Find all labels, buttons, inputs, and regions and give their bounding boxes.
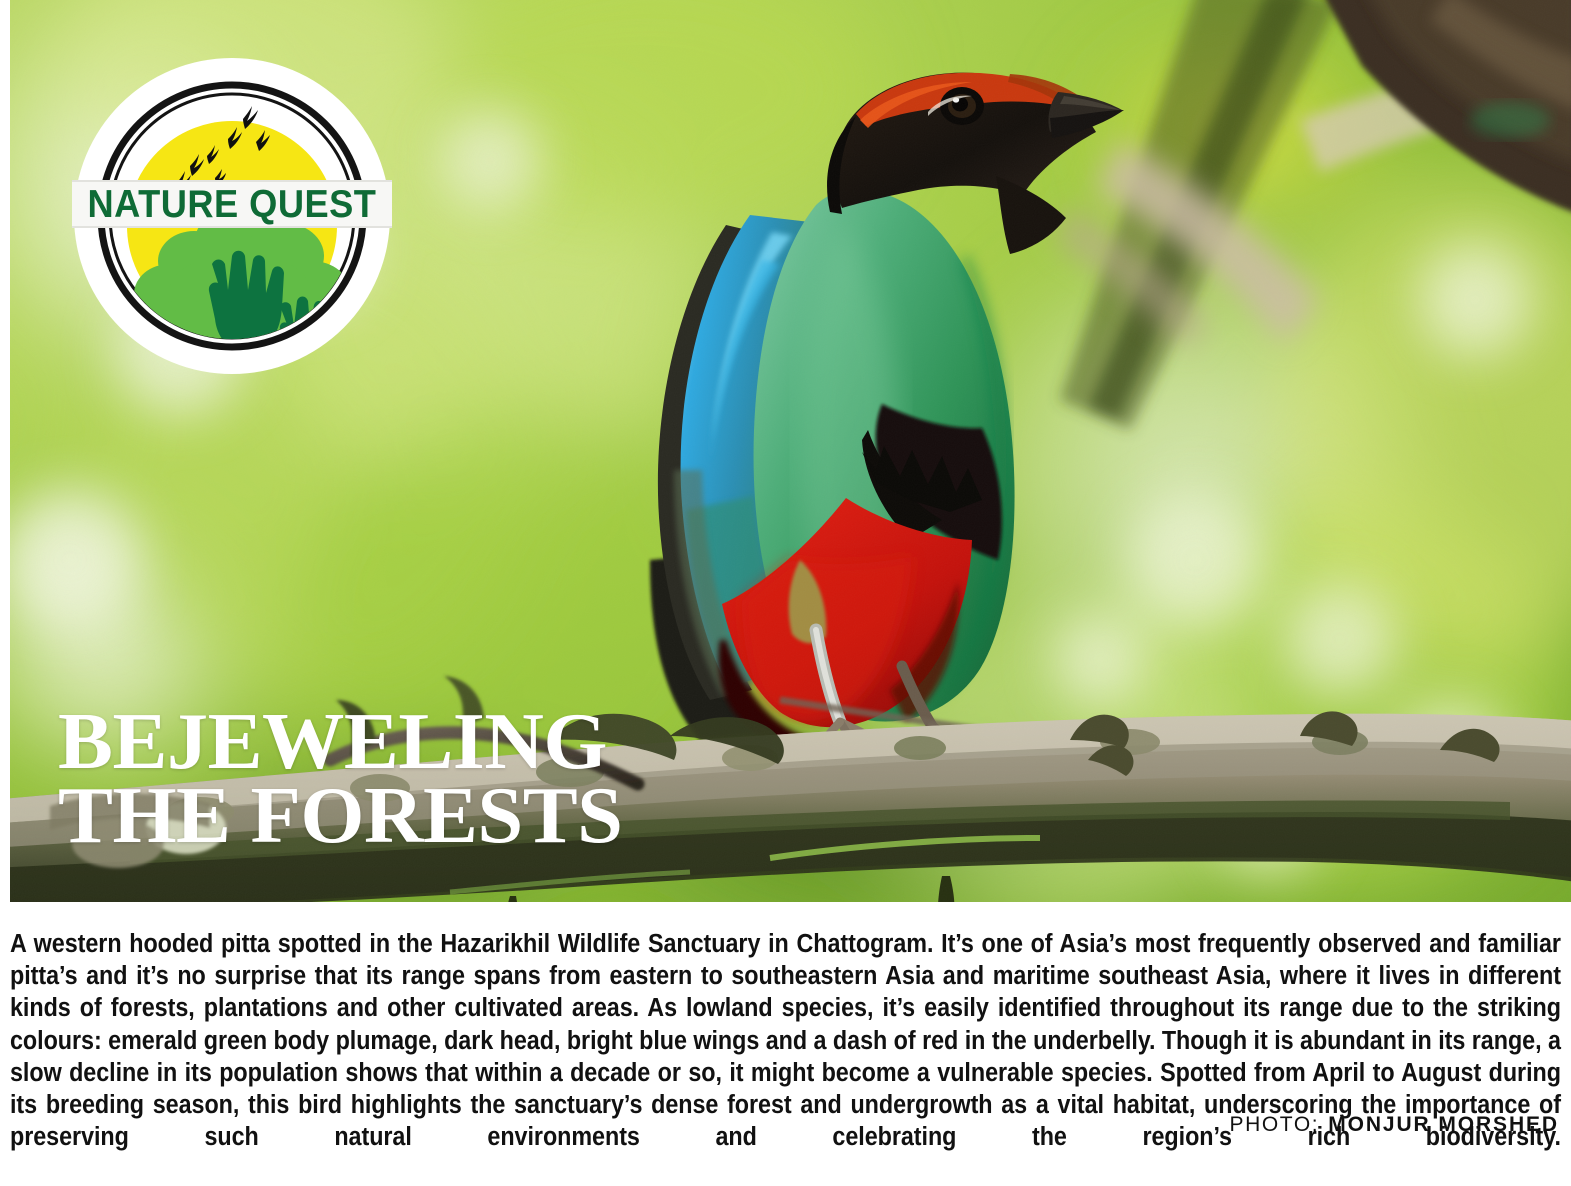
photo-credit-name: MONJUR MORSHED bbox=[1328, 1113, 1559, 1136]
caption-text: A western hooded pitta spotted in the Ha… bbox=[10, 928, 1561, 1186]
photo-credit-label: PHOTO: bbox=[1229, 1113, 1319, 1136]
photo-credit: PHOTO:MONJUR MORSHED bbox=[1229, 1113, 1559, 1137]
article-page: NATURE QUEST BEJEWELING THE FORESTS A we… bbox=[0, 0, 1571, 1179]
nature-quest-logo: NATURE QUEST bbox=[72, 56, 392, 386]
caption-block: A western hooded pitta spotted in the Ha… bbox=[10, 928, 1562, 1186]
logo-brand-text: NATURE QUEST bbox=[88, 182, 377, 225]
logo-graphic: NATURE QUEST bbox=[72, 56, 392, 386]
page-title: BEJEWELING THE FORESTS bbox=[58, 706, 622, 853]
